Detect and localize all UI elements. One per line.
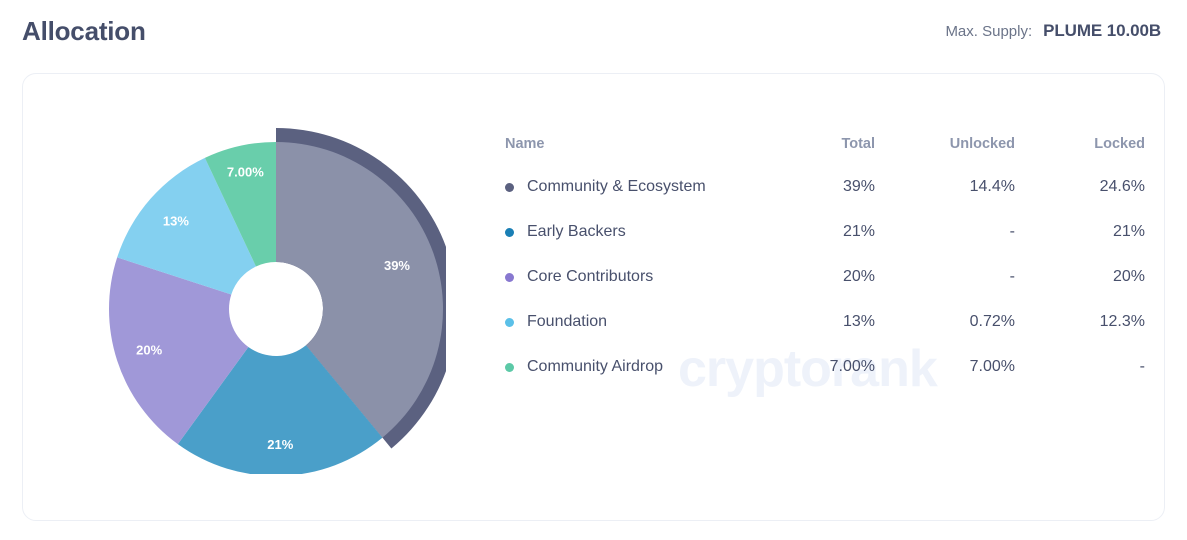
legend-label: Foundation (527, 313, 607, 331)
cell-locked: 21% (1015, 223, 1145, 268)
legend-dot-icon (505, 228, 514, 237)
allocation-donut-chart: 39%21%20%13%7.00% (23, 74, 483, 521)
table-row[interactable]: Community Airdrop7.00%7.00%- (505, 358, 1145, 403)
legend-label: Core Contributors (527, 268, 653, 286)
cell-name: Early Backers (505, 223, 757, 268)
legend-entry: Core Contributors (505, 268, 757, 286)
allocation-card: cryptorank 39%21%20%13%7.00% Name Total … (22, 73, 1165, 521)
table-header-row: Name Total Unlocked Locked (505, 136, 1145, 178)
cell-unlocked: - (875, 223, 1015, 268)
legend-label: Early Backers (527, 223, 626, 241)
legend-label: Community Airdrop (527, 358, 663, 376)
page-header: Allocation Max. Supply: PLUME 10.00B (0, 0, 1187, 62)
cell-locked: - (1015, 358, 1145, 403)
cell-total: 21% (757, 223, 875, 268)
cell-name: Community & Ecosystem (505, 178, 757, 223)
cell-total: 20% (757, 268, 875, 313)
table-row[interactable]: Community & Ecosystem39%14.4%24.6% (505, 178, 1145, 223)
legend-entry: Foundation (505, 313, 757, 331)
cell-locked: 24.6% (1015, 178, 1145, 223)
table-row[interactable]: Core Contributors20%-20% (505, 268, 1145, 313)
legend-dot-icon (505, 363, 514, 372)
donut-slice-label: 7.00% (227, 164, 264, 179)
donut-svg: 39%21%20%13%7.00% (86, 74, 446, 474)
donut-slice-label: 21% (267, 437, 293, 452)
column-header-name[interactable]: Name (505, 136, 757, 178)
cell-unlocked: 0.72% (875, 313, 1015, 358)
column-header-locked[interactable]: Locked (1015, 136, 1145, 178)
legend-dot-icon (505, 183, 514, 192)
legend-dot-icon (505, 318, 514, 327)
legend-label: Community & Ecosystem (527, 178, 706, 196)
cell-total: 7.00% (757, 358, 875, 403)
column-header-unlocked[interactable]: Unlocked (875, 136, 1015, 178)
cell-unlocked: - (875, 268, 1015, 313)
legend-entry: Early Backers (505, 223, 757, 241)
cell-locked: 20% (1015, 268, 1145, 313)
column-header-total[interactable]: Total (757, 136, 875, 178)
max-supply-value: PLUME 10.00B (1043, 21, 1161, 41)
legend-entry: Community Airdrop (505, 358, 757, 376)
table-row[interactable]: Early Backers21%-21% (505, 223, 1145, 268)
page-title: Allocation (22, 16, 146, 47)
max-supply: Max. Supply: PLUME 10.00B (945, 21, 1165, 41)
legend-entry: Community & Ecosystem (505, 178, 757, 196)
donut-slice-label: 13% (163, 213, 189, 228)
allocation-table-area: Name Total Unlocked Locked Community & E… (483, 74, 1165, 521)
legend-dot-icon (505, 273, 514, 282)
cell-locked: 12.3% (1015, 313, 1145, 358)
cell-total: 39% (757, 178, 875, 223)
cell-name: Core Contributors (505, 268, 757, 313)
cell-name: Community Airdrop (505, 358, 757, 403)
donut-slice-label: 39% (384, 258, 410, 273)
table-row[interactable]: Foundation13%0.72%12.3% (505, 313, 1145, 358)
cell-unlocked: 7.00% (875, 358, 1015, 403)
cell-unlocked: 14.4% (875, 178, 1015, 223)
cell-name: Foundation (505, 313, 757, 358)
allocation-table: Name Total Unlocked Locked Community & E… (505, 136, 1145, 403)
cell-total: 13% (757, 313, 875, 358)
max-supply-label: Max. Supply: (945, 23, 1032, 40)
donut-slice-label: 20% (136, 343, 162, 358)
